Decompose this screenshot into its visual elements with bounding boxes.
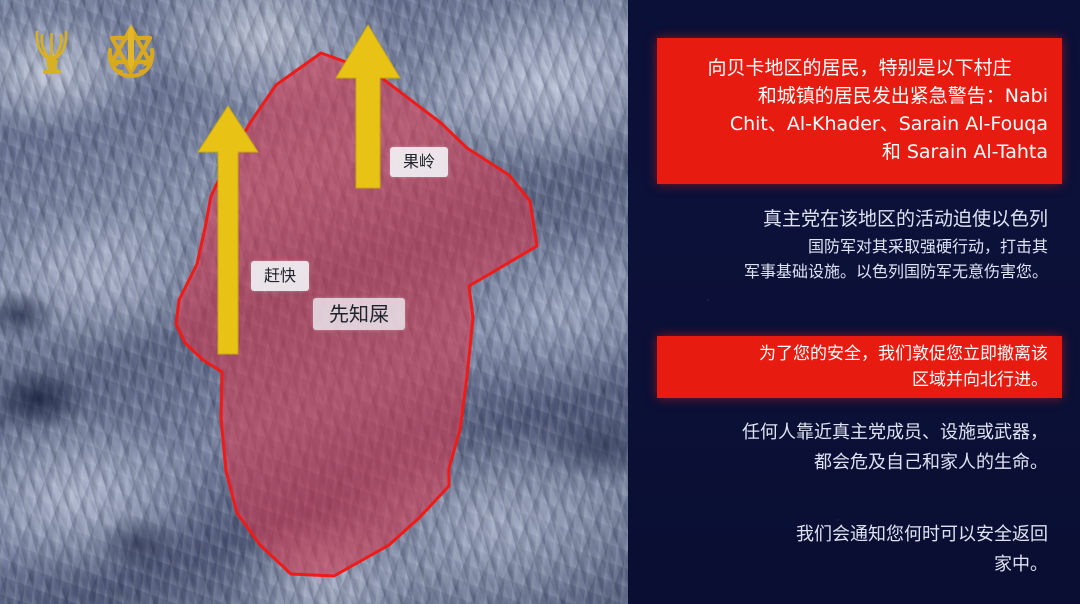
idf-emblem-icon [100, 20, 162, 82]
urgent-warning-banner: 向贝卡地区的居民，特别是以下村庄 和城镇的居民发出紧急警告：Nabi Chit、… [657, 38, 1062, 184]
map-label-guoling: 果岭 [390, 147, 448, 177]
hezbollah-line-3: 军事基础设施。以色列国防军无意伤害您。 [657, 259, 1048, 285]
proximity-line-2: 都会危及自己和家人的生命。 [657, 448, 1048, 478]
warning-line-4: 和 Sarain Al-Tahta [671, 139, 1048, 167]
evacuate-line-2: 区域并向北行进。 [671, 367, 1048, 393]
hezbollah-line-1: 真主党在该地区的活动迫使以色列 [657, 205, 1048, 234]
warning-line-2: 和城镇的居民发出紧急警告：Nabi [671, 83, 1048, 111]
broadcast-menorah-icon [26, 20, 78, 78]
proximity-warning-text: 任何人靠近真主党成员、设施或武器， 都会危及自己和家人的生命。 [657, 418, 1062, 477]
warning-message-panel: 向贝卡地区的居民，特别是以下村庄 和城镇的居民发出紧急警告：Nabi Chit、… [628, 0, 1080, 604]
warning-line-3: Chit、Al-Khader、Sarain Al-Fouqa [671, 111, 1048, 139]
evacuation-order-banner: 为了您的安全，我们敦促您立即撤离该 区域并向北行进。 [657, 336, 1062, 398]
satellite-map-panel: 果岭 赶快 先知屎 [0, 0, 628, 604]
evacuation-warning-screenshot: 果岭 赶快 先知屎 向贝卡地区的居民，特别是以下村庄 和城镇的居民发出紧急警告：… [0, 0, 1080, 604]
hezbollah-line-2: 国防军对其采取强硬行动，打击其 [657, 234, 1048, 260]
warning-line-1: 向贝卡地区的居民，特别是以下村庄 [671, 55, 1048, 83]
emblem-group [26, 20, 162, 82]
return-line-1: 我们会通知您何时可以安全返回 [657, 520, 1048, 550]
map-label-xianzhishi: 先知屎 [313, 298, 405, 330]
evacuate-line-1: 为了您的安全，我们敦促您立即撤离该 [671, 341, 1048, 367]
safe-return-text: 我们会通知您何时可以安全返回 家中。 [657, 520, 1062, 579]
map-label-gankuai: 赶快 [251, 261, 309, 291]
proximity-line-1: 任何人靠近真主党成员、设施或武器， [657, 418, 1048, 448]
return-line-2: 家中。 [657, 550, 1048, 580]
hezbollah-activity-text: 真主党在该地区的活动迫使以色列 国防军对其采取强硬行动，打击其 军事基础设施。以… [657, 205, 1062, 285]
